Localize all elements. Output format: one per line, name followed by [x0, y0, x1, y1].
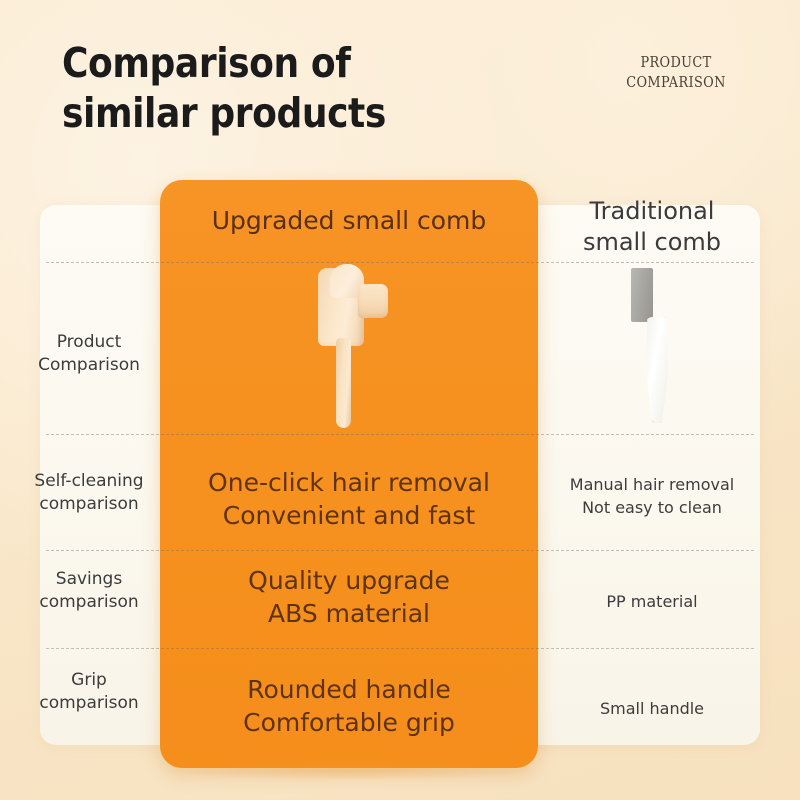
column-header-upgraded: Upgraded small comb: [168, 205, 530, 237]
cell-traditional-self-cleaning: Manual hair removal Not easy to clean: [548, 473, 756, 519]
kicker-line-2: COMPARISON: [590, 72, 762, 92]
traditional-comb-head-icon: [631, 268, 653, 322]
traditional-comb-icon: [612, 265, 702, 433]
kicker-line-1: PRODUCT: [590, 52, 762, 72]
page-title-line-1: Comparison of: [62, 38, 440, 88]
cell-traditional-grip-line-1: Small handle: [548, 697, 756, 720]
row-label-1-line-2: Comparison: [14, 354, 164, 377]
traditional-comb-handle-icon: [646, 317, 668, 423]
cell-traditional-self-cleaning-line-1: Manual hair removal: [548, 473, 756, 496]
cell-upgraded-self-cleaning: One-click hair removal Convenient and fa…: [168, 466, 530, 532]
upgraded-comb-icon: [300, 262, 420, 432]
row-label-4-line-1: Grip: [14, 669, 164, 692]
row-label-product-comparison: Product Comparison: [14, 331, 164, 377]
row-label-2-line-1: Self-cleaning: [14, 470, 164, 493]
cell-traditional-self-cleaning-line-2: Not easy to clean: [548, 496, 756, 519]
row-divider-2: [46, 434, 754, 435]
upgraded-comb-handle-icon: [336, 338, 351, 428]
row-label-1-line-1: Product: [14, 331, 164, 354]
cell-traditional-savings-line-1: PP material: [548, 590, 756, 613]
row-label-grip-comparison: Grip comparison: [14, 669, 164, 715]
cell-upgraded-grip: Rounded handle Comfortable grip: [168, 673, 530, 739]
kicker-label: PRODUCT COMPARISON: [590, 52, 762, 92]
cell-traditional-grip: Small handle: [548, 697, 756, 720]
page-title-line-2: similar products: [62, 88, 440, 138]
cell-upgraded-grip-line-2: Comfortable grip: [168, 706, 530, 739]
cell-traditional-savings: PP material: [548, 590, 756, 613]
row-label-3-line-1: Savings: [14, 568, 164, 591]
row-divider-3: [46, 550, 754, 551]
cell-upgraded-savings-line-2: ABS material: [168, 597, 530, 630]
row-label-3-line-2: comparison: [14, 591, 164, 614]
row-label-self-cleaning-comparison: Self-cleaning comparison: [14, 470, 164, 516]
row-label-savings-comparison: Savings comparison: [14, 568, 164, 614]
upgraded-comb-button-icon: [358, 284, 388, 318]
row-label-4-line-2: comparison: [14, 692, 164, 715]
cell-upgraded-savings-line-1: Quality upgrade: [168, 564, 530, 597]
cell-upgraded-grip-line-1: Rounded handle: [168, 673, 530, 706]
page-title: Comparison of similar products: [62, 38, 492, 138]
row-divider-4: [46, 648, 754, 649]
column-header-traditional-line-2: small comb: [548, 227, 756, 258]
cell-upgraded-self-cleaning-line-2: Convenient and fast: [168, 499, 530, 532]
row-label-2-line-2: comparison: [14, 493, 164, 516]
product-comparison-infographic: Comparison of similar products PRODUCT C…: [0, 0, 800, 800]
column-header-traditional-line-1: Traditional: [548, 196, 756, 227]
column-header-traditional: Traditional small comb: [548, 196, 756, 258]
cell-upgraded-savings: Quality upgrade ABS material: [168, 564, 530, 630]
cell-upgraded-self-cleaning-line-1: One-click hair removal: [168, 466, 530, 499]
